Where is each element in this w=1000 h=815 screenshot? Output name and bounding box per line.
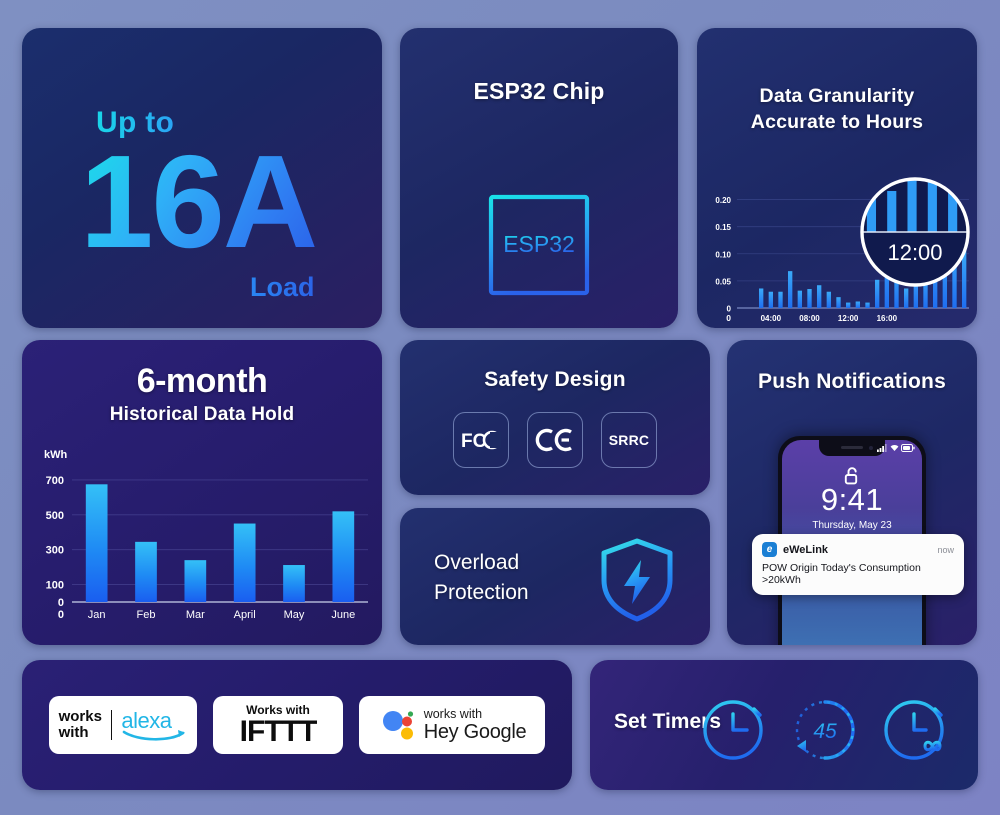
srrc-badge: SRRC [601, 412, 657, 468]
works-with-ifttt-logo[interactable]: Works with IFTTT [213, 696, 343, 754]
microchip-icon: ESP32 [464, 170, 614, 325]
safety-title: Safety Design [400, 368, 710, 392]
six-month-consumption-chart: kWh 0100300500700 JanFebMarAprilMayJune0 [22, 440, 382, 640]
timer-icon-row: 45 [692, 684, 958, 766]
speaker-icon [841, 446, 863, 449]
svg-text:June: June [331, 609, 355, 621]
hourly-consumption-chart: 00.050.100.150.20 04:0008:0012:0016:000 … [697, 168, 977, 328]
svg-text:Mar: Mar [186, 609, 205, 621]
google-works-with-text: works with [424, 707, 527, 721]
overload-text: Overload Protection [434, 548, 529, 608]
phone-date: Thursday, May 23 [782, 520, 922, 531]
notification-timestamp: now [937, 545, 954, 555]
svg-text:700: 700 [46, 475, 64, 487]
overload-line1: Overload [434, 551, 519, 574]
card-data-granularity: Data Granularity Accurate to Hours 00.05… [697, 28, 977, 328]
notification-app-name: eWeLink [783, 544, 931, 556]
chip-label-text: ESP32 [503, 231, 575, 257]
ewelink-app-icon: e [762, 542, 777, 557]
load-label: Load [250, 272, 315, 303]
svg-text:0: 0 [58, 597, 64, 609]
works-with-google-logo[interactable]: works with Hey Google [359, 696, 545, 754]
svg-text:300: 300 [46, 545, 64, 557]
granularity-title: Data Granularity Accurate to Hours [697, 84, 977, 135]
magnifier-icon: 12:00 [862, 168, 977, 285]
magnifier-label: 12:00 [887, 240, 942, 265]
srrc-label: SRRC [609, 432, 649, 448]
svg-text:May: May [284, 609, 305, 621]
svg-text:0.15: 0.15 [715, 223, 731, 232]
card-esp32-chip: ESP32 Chip [400, 28, 678, 328]
history-ylabel: kWh [44, 449, 68, 461]
signal-icon [877, 444, 887, 452]
countdown-45-icon: 45 [784, 684, 866, 766]
shield-bolt-icon [596, 536, 678, 629]
notification-card[interactable]: e eWeLink now POW Origin Today's Consump… [752, 534, 964, 595]
svg-text:100: 100 [46, 580, 64, 592]
card-max-load: Up to 16A Load [22, 28, 382, 328]
svg-text:0: 0 [58, 609, 64, 621]
history-subtitle: Historical Data Hold [22, 404, 382, 426]
push-title: Push Notifications [727, 370, 977, 394]
fcc-icon: FC [461, 429, 501, 451]
svg-text:Feb: Feb [137, 609, 156, 621]
phone-notch [819, 440, 885, 456]
ce-badge [527, 412, 583, 468]
ifttt-brand-text: IFTTT [240, 718, 317, 747]
ce-icon [535, 428, 575, 452]
notification-body: POW Origin Today's Consumption >20kWh [762, 562, 954, 586]
alexa-wordmark: alexa [121, 708, 187, 742]
amazon-smile-icon [122, 729, 188, 743]
svg-text:0.05: 0.05 [715, 277, 731, 286]
certification-badges: FC SRRC [400, 412, 710, 468]
battery-icon [901, 444, 915, 452]
svg-text:0.10: 0.10 [715, 250, 731, 259]
stopwatch-icon [692, 684, 774, 766]
svg-text:April: April [234, 609, 256, 621]
google-brand-text: Hey Google [424, 721, 527, 743]
card-historical-data: 6-month Historical Data Hold kWh 0100300… [22, 340, 382, 645]
alexa-works-line2: with [59, 725, 102, 742]
camera-icon [869, 446, 873, 450]
alexa-works-with-text: works with [59, 709, 102, 742]
granularity-title-line2: Accurate to Hours [751, 111, 923, 133]
card-safety-design: Safety Design FC SRRC [400, 340, 710, 495]
svg-text:0.20: 0.20 [715, 196, 731, 205]
svg-text:16:00: 16:00 [877, 314, 898, 323]
granularity-title-line1: Data Granularity [760, 85, 915, 107]
countdown-value: 45 [813, 720, 837, 743]
infinite-timer-icon [876, 684, 958, 766]
card-overload-protection: Overload Protection [400, 508, 710, 645]
alexa-divider [111, 710, 113, 740]
infographic-grid: Up to 16A Load ESP32 Chip [0, 0, 1000, 815]
notification-header: e eWeLink now [762, 542, 954, 557]
svg-text:0: 0 [726, 313, 731, 323]
works-with-alexa-logo[interactable]: works with alexa [49, 696, 197, 754]
phone-time: 9:41 [782, 482, 922, 518]
svg-text:500: 500 [46, 510, 64, 522]
google-text-block: works with Hey Google [424, 707, 527, 743]
wifi-icon [890, 444, 899, 452]
history-title: 6-month [22, 362, 382, 401]
phone-status-icons [877, 444, 915, 452]
works-with-logo-row: works with alexa Works with IFTTT [22, 660, 572, 790]
google-assistant-icon [382, 710, 414, 740]
svg-text:Jan: Jan [88, 609, 106, 621]
card-set-timers: Set Timers 45 [590, 660, 978, 790]
alexa-works-line1: works [59, 709, 102, 726]
svg-text:08:00: 08:00 [799, 314, 820, 323]
esp32-title: ESP32 Chip [400, 78, 678, 105]
overload-line2: Protection [434, 581, 529, 604]
card-push-notifications: Push Notifications [727, 340, 977, 645]
svg-text:04:00: 04:00 [761, 314, 782, 323]
card-works-with: works with alexa Works with IFTTT [22, 660, 572, 790]
svg-text:12:00: 12:00 [838, 314, 859, 323]
fcc-badge: FC [453, 412, 509, 468]
amperage-value: 16A [80, 136, 316, 268]
